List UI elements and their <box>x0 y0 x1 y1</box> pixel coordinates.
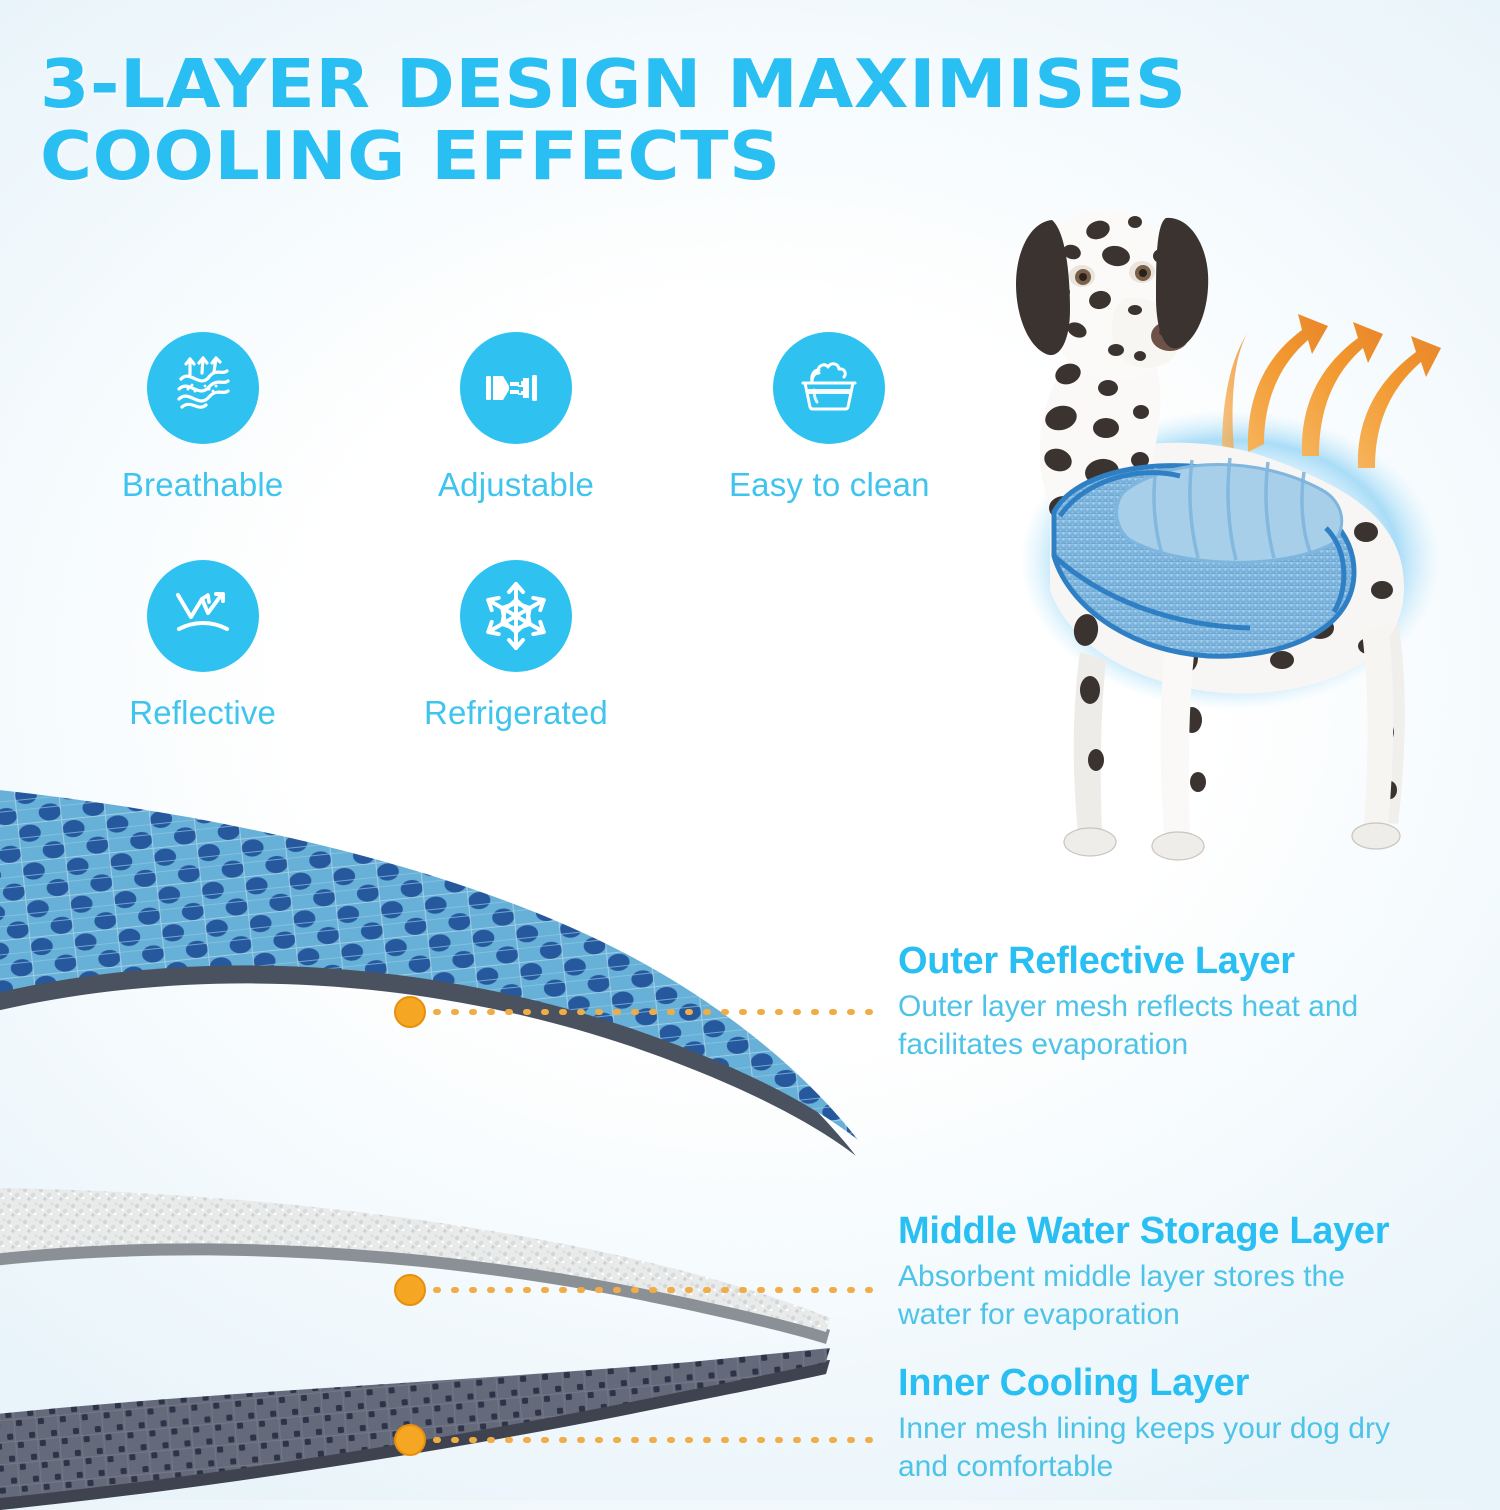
callout-title: Inner Cooling Layer <box>898 1360 1498 1406</box>
dog-ear-right <box>1156 218 1208 349</box>
breathable-fabric-arrows-icon <box>147 332 259 444</box>
product-photo-dog-wearing-vest <box>930 160 1490 900</box>
callout-body: Outer layer mesh reflects heat and facil… <box>898 988 1418 1064</box>
callout-outer-reflective-layer: Outer Reflective Layer Outer layer mesh … <box>898 938 1498 1064</box>
layer-outer-reflective-swatch <box>0 786 858 1156</box>
snowflake-icon <box>460 560 572 672</box>
feature-breathable: Breathable <box>46 332 359 504</box>
feature-label: Adjustable <box>438 466 594 504</box>
feature-list: Breathable <box>46 332 986 732</box>
three-layer-fabric-diagram <box>0 770 930 1510</box>
feature-adjustable: Adjustable <box>359 332 672 504</box>
callout-body: Inner mesh lining keeps your dog dry and… <box>898 1410 1418 1486</box>
wash-basin-suds-icon <box>773 332 885 444</box>
callout-body: Absorbent middle layer stores the water … <box>898 1258 1418 1334</box>
feature-refrigerated: Refrigerated <box>359 560 672 732</box>
buckle-strap-icon <box>460 332 572 444</box>
feature-label: Easy to clean <box>729 466 930 504</box>
feature-reflective: Reflective <box>46 560 359 732</box>
callout-inner-cooling-layer: Inner Cooling Layer Inner mesh lining ke… <box>898 1360 1498 1486</box>
feature-label: Reflective <box>129 694 276 732</box>
callout-title: Middle Water Storage Layer <box>898 1208 1498 1254</box>
page-title-line-1: 3-Layer Design Maximises <box>40 48 1291 120</box>
layer-inner-cooling-swatch <box>0 1348 830 1510</box>
layer-middle-water-storage-swatch <box>0 1188 830 1344</box>
callout-middle-water-storage-layer: Middle Water Storage Layer Absorbent mid… <box>898 1208 1498 1334</box>
reflected-rays-icon <box>147 560 259 672</box>
feature-label: Breathable <box>122 466 284 504</box>
feature-label: Refrigerated <box>424 694 608 732</box>
callout-title: Outer Reflective Layer <box>898 938 1498 984</box>
dog-paws <box>1064 823 1400 860</box>
